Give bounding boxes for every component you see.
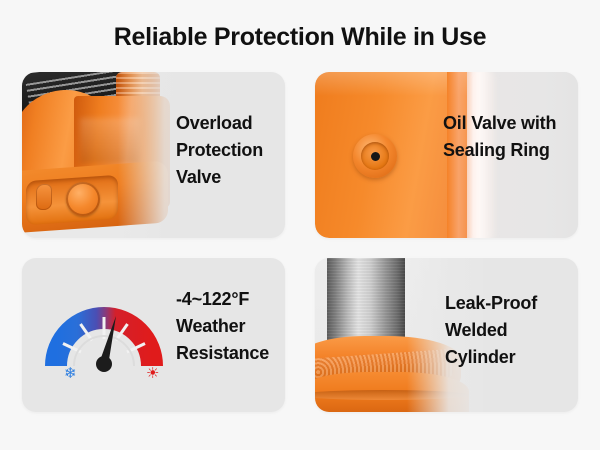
snowflake-icon: ❄ [64,366,77,381]
gauge-icon [44,274,164,378]
feature-card-overload-protection-valve[interactable]: Overload Protection Valve [22,72,285,238]
page-title: Reliable Protection While in Use [0,22,600,52]
sun-icon: ☀ [146,366,159,381]
feature-card-leak-proof-welded-cylinder[interactable]: Leak-Proof Welded Cylinder [315,258,578,412]
feature-card-label: -4~122°F Weather Resistance [176,286,285,367]
feature-card-label: Overload Protection Valve [176,110,285,191]
feature-card-weather-resistance[interactable]: ❄ ☀ -4~122°F Weather Resistance [22,258,285,412]
feature-card-oil-valve-sealing-ring[interactable]: Oil Valve with Sealing Ring [315,72,578,238]
feature-card-grid: Overload Protection Valve Oil Valve with… [22,72,578,412]
overload-valve-icon [66,182,100,216]
feature-card-label: Oil Valve with Sealing Ring [443,110,578,164]
feature-card-label: Leak-Proof Welded Cylinder [445,290,578,371]
